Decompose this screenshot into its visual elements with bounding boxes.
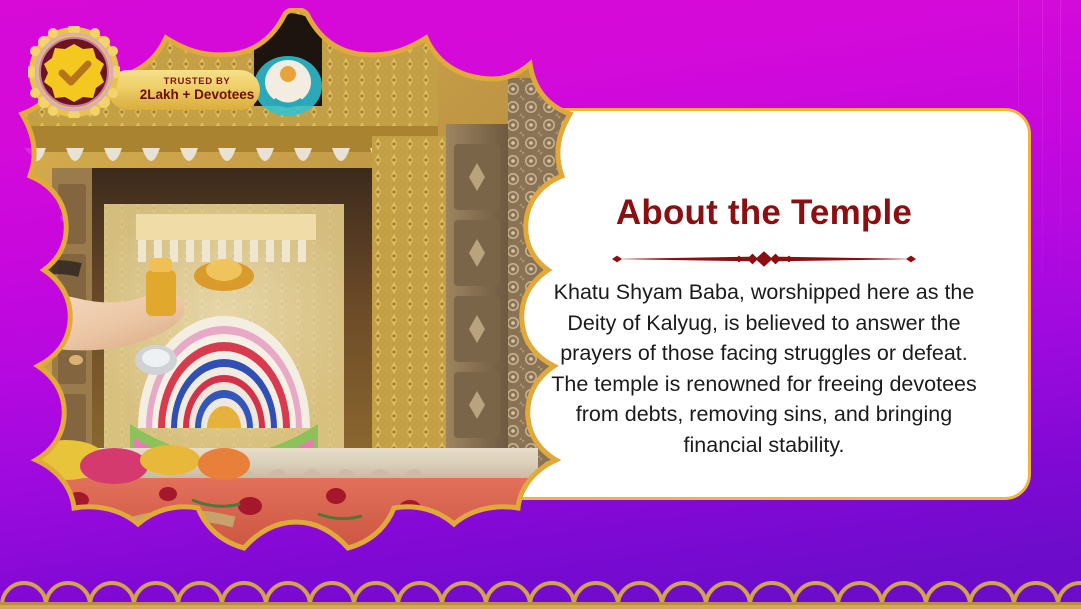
diamond-divider-icon — [604, 249, 924, 269]
trust-badge: TRUSTED BY 2Lakh + Devotees — [28, 26, 243, 108]
page-title: About the Temple — [616, 195, 912, 230]
about-body-text: Khatu Shyam Baba, worshipped here as the… — [549, 277, 979, 460]
trusted-by-label: TRUSTED BY — [164, 77, 231, 87]
scalloped-arch-border-icon — [0, 561, 1081, 609]
background-streak — [1042, 0, 1043, 330]
trust-badge-pill: TRUSTED BY 2Lakh + Devotees — [108, 70, 260, 110]
verified-check-seal-icon — [28, 26, 120, 118]
background-streak — [1060, 0, 1061, 330]
slide-canvas: About the Temple Khat — [0, 0, 1081, 609]
devotee-count-label: 2Lakh + Devotees — [140, 87, 254, 103]
